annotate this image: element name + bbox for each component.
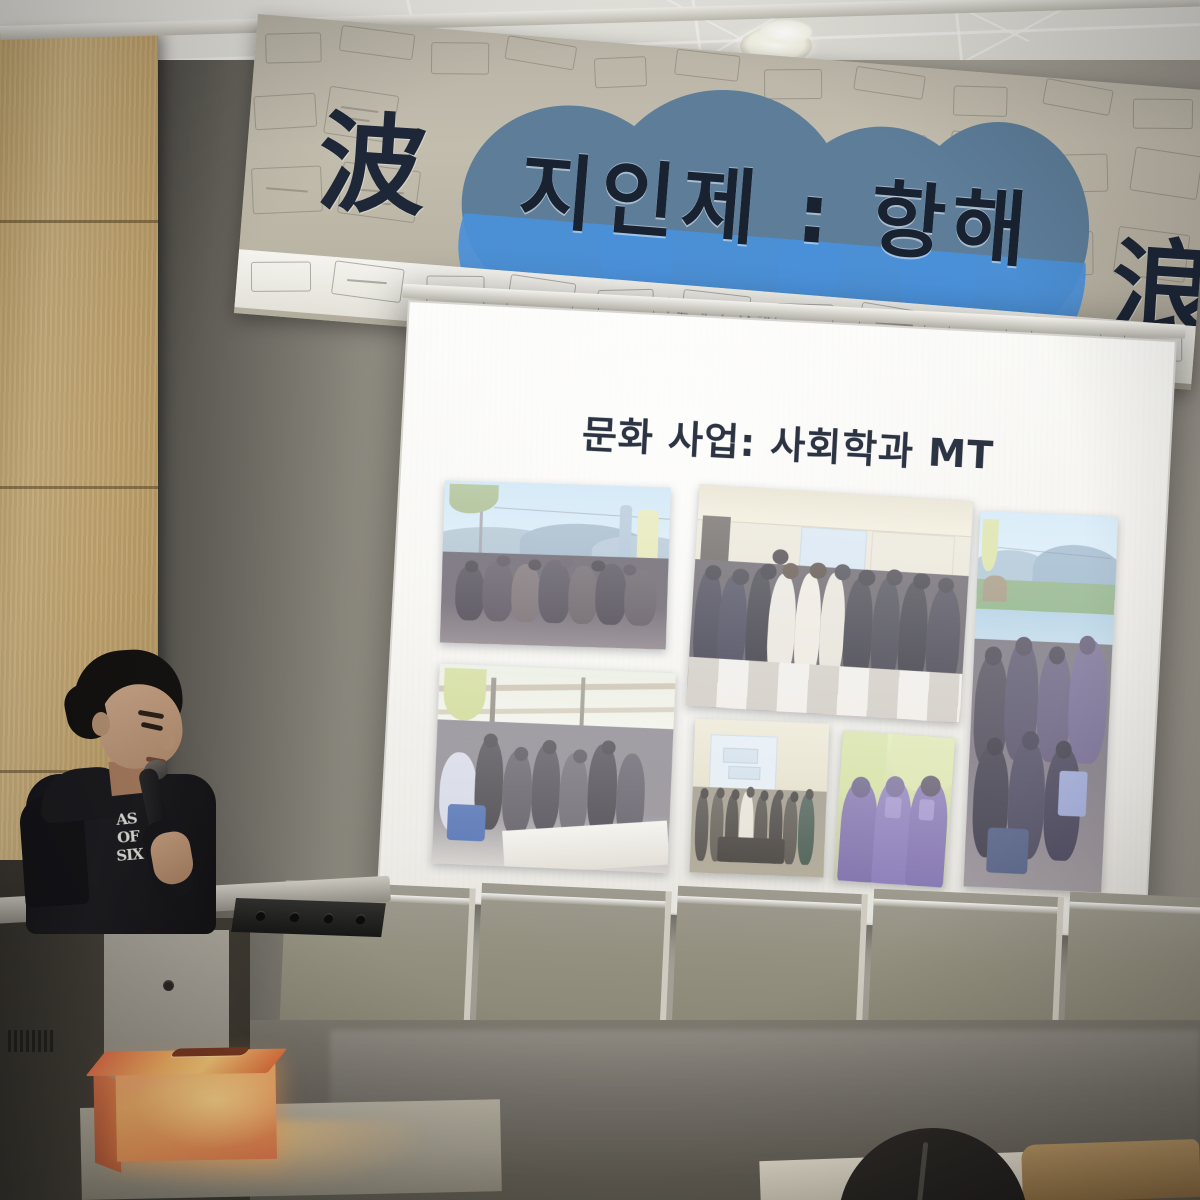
hoodie-print-line-1: AS [116,811,138,828]
ballot-box[interactable] [115,1040,299,1161]
hoodie-print-line-2: OF [117,829,140,846]
podium-knob [163,980,174,991]
collage-photo-3 [963,511,1118,893]
ballot-box-slot [170,1047,251,1056]
podium-monitor-arm [231,898,386,937]
ceiling-downlight-glow [760,20,812,44]
presentation-scene-photo: 波 浪 지인제 : 항해 [0,0,1200,1200]
collage-photo-1 [440,481,671,650]
slide-photo-collage [426,472,1136,908]
podium-speaker-grille [8,1030,54,1052]
hoodie-print-line-3: SIX [116,846,144,863]
collage-photo-4 [432,663,676,873]
presenter-nose [161,734,175,750]
collage-photo-5 [690,719,830,878]
audience-hair-part [917,1142,929,1200]
projection-screen: 문화 사업: 사회학과 MT [377,300,1177,939]
presenter-ear [92,712,110,736]
ballot-box-front [115,1063,277,1162]
presenter: AS OF SIX [22,650,222,930]
wall-panel [475,883,672,1041]
collage-photo-6 [833,730,955,887]
banner-cjk-left: 波 [315,108,430,223]
collage-photo-2 [686,484,973,723]
audience-chair [1021,1139,1200,1200]
